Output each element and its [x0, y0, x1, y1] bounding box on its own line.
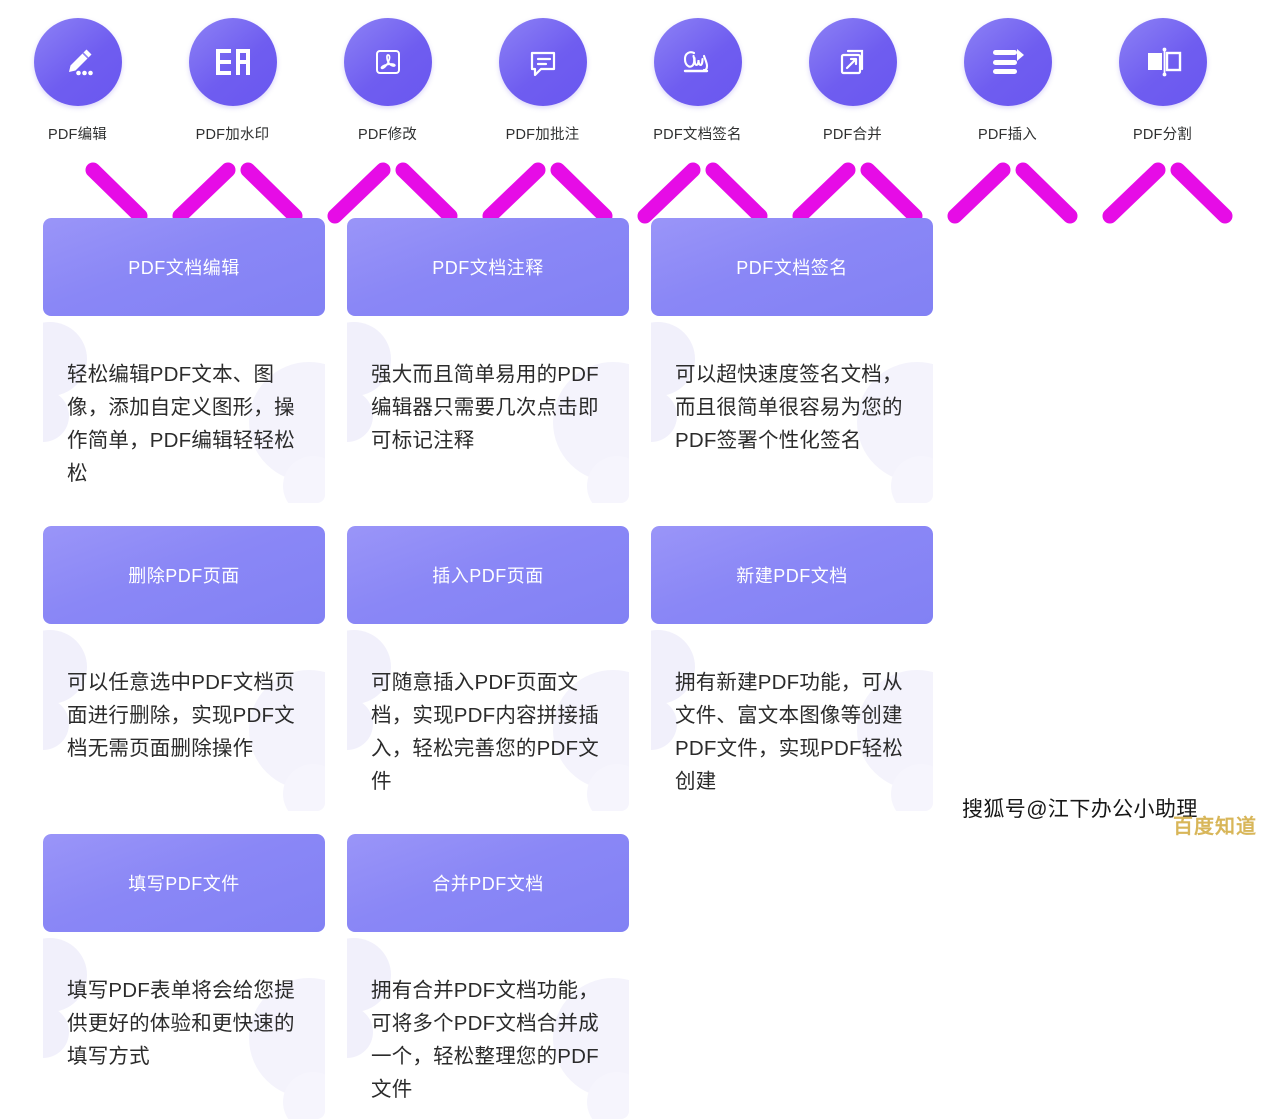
- decor-blob: [43, 1006, 69, 1058]
- card-title: PDF文档签名: [736, 254, 848, 280]
- signature-icon: [672, 40, 724, 84]
- icon-label: PDF插入: [978, 123, 1037, 144]
- decor-blob: [347, 390, 373, 442]
- icon-label: PDF加批注: [506, 123, 580, 144]
- icon-item-pdf-annotate[interactable]: PDF加批注: [465, 18, 620, 148]
- icon-item-pdf-sign[interactable]: PDF文档签名: [620, 18, 775, 148]
- acrobat-pdf-icon: [366, 40, 410, 84]
- icon-label: PDF合并: [823, 123, 882, 144]
- icon-circle[interactable]: [1119, 18, 1207, 106]
- card-title: PDF文档注释: [432, 254, 544, 280]
- card-description: 可以超快速度签名文档，而且很简单很容易为您的PDF签署个性化签名: [675, 358, 917, 457]
- feature-card[interactable]: 新建PDF文档 拥有新建PDF功能，可从文件、富文本图像等创建PDF文件，实现P…: [651, 526, 933, 811]
- split-pages-icon: [1140, 41, 1186, 83]
- decor-blob: [651, 390, 677, 442]
- decor-blob: [651, 698, 677, 750]
- decor-blob: [43, 390, 69, 442]
- card-body: 填写PDF表单将会给您提供更好的体验和更快速的填写方式: [43, 932, 325, 1119]
- icon-item-pdf-merge[interactable]: PDF合并: [775, 18, 930, 148]
- card-description: 拥有合并PDF文档功能，可将多个PDF文档合并成一个，轻松整理您的PDF文件: [371, 974, 613, 1106]
- card-title: 合并PDF文档: [432, 870, 544, 896]
- card-title: 填写PDF文件: [128, 870, 240, 896]
- decor-blob: [43, 698, 69, 750]
- card-description: 强大而且简单易用的PDF编辑器只需要几次点击即可标记注释: [371, 358, 613, 457]
- feature-card[interactable]: 删除PDF页面 可以任意选中PDF文档页面进行删除，实现PDF文档无需页面删除操…: [43, 526, 325, 811]
- feature-card[interactable]: 插入PDF页面 可随意插入PDF页面文档，实现PDF内容拼接插入，轻松完善您的P…: [347, 526, 629, 811]
- icon-circle[interactable]: [654, 18, 742, 106]
- card-description: 可随意插入PDF页面文档，实现PDF内容拼接插入，轻松完善您的PDF文件: [371, 666, 613, 798]
- card-header: 删除PDF页面: [43, 526, 325, 624]
- icon-label: PDF修改: [358, 123, 417, 144]
- card-body: 轻松编辑PDF文本、图像，添加自定义图形，操作简单，PDF编辑轻轻松松: [43, 316, 325, 503]
- feature-card[interactable]: PDF文档注释 强大而且简单易用的PDF编辑器只需要几次点击即可标记注释: [347, 218, 629, 503]
- icon-item-pdf-edit[interactable]: PDF编辑: [0, 18, 155, 148]
- feature-card[interactable]: 合并PDF文档 拥有合并PDF文档功能，可将多个PDF文档合并成一个，轻松整理您…: [347, 834, 629, 1119]
- comment-bubble-icon: [521, 40, 565, 84]
- card-body: 可以超快速度签名文档，而且很简单很容易为您的PDF签署个性化签名: [651, 316, 933, 503]
- card-body: 可随意插入PDF页面文档，实现PDF内容拼接插入，轻松完善您的PDF文件: [347, 624, 629, 811]
- stamp-seal-icon: [210, 41, 256, 83]
- insert-lines-icon: [985, 41, 1031, 83]
- merge-arrow-icon: [831, 40, 875, 84]
- icon-circle[interactable]: [964, 18, 1052, 106]
- icon-item-pdf-watermark[interactable]: PDF加水印: [155, 18, 310, 148]
- card-title: 插入PDF页面: [432, 562, 544, 588]
- decor-blob: [347, 1006, 373, 1058]
- feature-card[interactable]: PDF文档编辑 轻松编辑PDF文本、图像，添加自定义图形，操作简单，PDF编辑轻…: [43, 218, 325, 503]
- card-description: 可以任意选中PDF文档页面进行删除，实现PDF文档无需页面删除操作: [67, 666, 309, 765]
- sohu-watermark: 搜狐号@江下办公小助理: [962, 793, 1198, 823]
- icon-circle[interactable]: [34, 18, 122, 106]
- card-header: PDF文档编辑: [43, 218, 325, 316]
- icon-item-pdf-modify[interactable]: PDF修改: [310, 18, 465, 148]
- baidu-watermark: 百度知道: [1173, 810, 1257, 839]
- pencil-edit-icon: [56, 40, 100, 84]
- feature-card[interactable]: 填写PDF文件 填写PDF表单将会给您提供更好的体验和更快速的填写方式: [43, 834, 325, 1119]
- decor-blob: [347, 698, 373, 750]
- icon-item-pdf-insert[interactable]: PDF插入: [930, 18, 1085, 148]
- icon-circle[interactable]: [189, 18, 277, 106]
- card-header: 新建PDF文档: [651, 526, 933, 624]
- card-body: 强大而且简单易用的PDF编辑器只需要几次点击即可标记注释: [347, 316, 629, 503]
- card-title: 删除PDF页面: [128, 562, 240, 588]
- card-header: 填写PDF文件: [43, 834, 325, 932]
- zigzag-connector-arrows: [0, 158, 1265, 224]
- icon-item-pdf-split[interactable]: PDF分割: [1085, 18, 1240, 148]
- card-description: 填写PDF表单将会给您提供更好的体验和更快速的填写方式: [67, 974, 309, 1073]
- card-body: 拥有新建PDF功能，可从文件、富文本图像等创建PDF文件，实现PDF轻松创建: [651, 624, 933, 811]
- card-header: 插入PDF页面: [347, 526, 629, 624]
- icon-label: PDF分割: [1133, 123, 1192, 144]
- icon-circle[interactable]: [499, 18, 587, 106]
- card-header: PDF文档签名: [651, 218, 933, 316]
- card-description: 轻松编辑PDF文本、图像，添加自定义图形，操作简单，PDF编辑轻轻松松: [67, 358, 309, 490]
- card-body: 拥有合并PDF文档功能，可将多个PDF文档合并成一个，轻松整理您的PDF文件: [347, 932, 629, 1119]
- card-header: PDF文档注释: [347, 218, 629, 316]
- icon-circle[interactable]: [344, 18, 432, 106]
- card-title: 新建PDF文档: [736, 562, 848, 588]
- icon-circle[interactable]: [809, 18, 897, 106]
- feature-icon-strip: PDF编辑 PDF加水印: [0, 18, 1265, 148]
- card-header: 合并PDF文档: [347, 834, 629, 932]
- icon-label: PDF编辑: [48, 123, 107, 144]
- card-body: 可以任意选中PDF文档页面进行删除，实现PDF文档无需页面删除操作: [43, 624, 325, 811]
- card-title: PDF文档编辑: [128, 254, 240, 280]
- feature-card[interactable]: PDF文档签名 可以超快速度签名文档，而且很简单很容易为您的PDF签署个性化签名: [651, 218, 933, 503]
- card-description: 拥有新建PDF功能，可从文件、富文本图像等创建PDF文件，实现PDF轻松创建: [675, 666, 917, 798]
- icon-label: PDF加水印: [196, 123, 270, 144]
- icon-label: PDF文档签名: [653, 123, 741, 144]
- feature-card-grid: PDF文档编辑 轻松编辑PDF文本、图像，添加自定义图形，操作简单，PDF编辑轻…: [43, 218, 1225, 1119]
